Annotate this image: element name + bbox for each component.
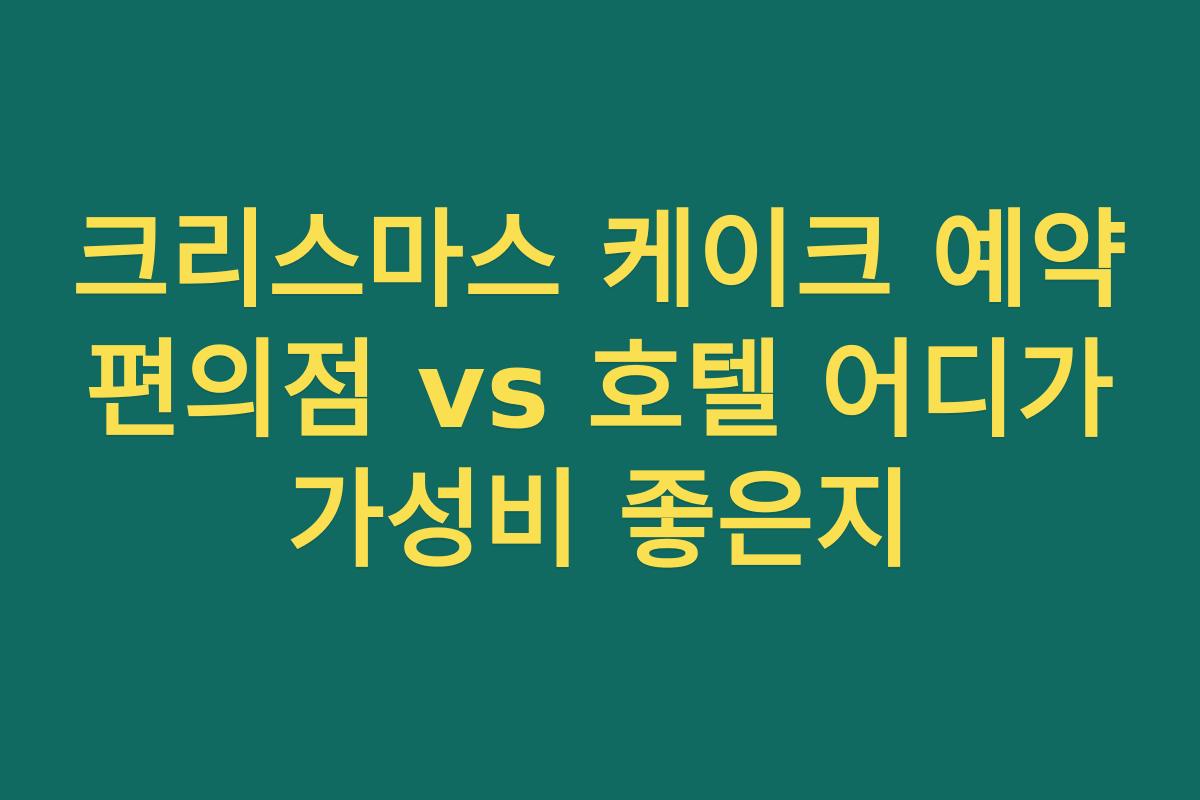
thumbnail-canvas: 크리스마스 케이크 예약 편의점 vs 호텔 어디가 가성비 좋은지 [0,0,1200,800]
title-line-3: 가성비 좋은지 [20,456,1180,586]
title-line-1: 크리스마스 케이크 예약 [20,196,1180,326]
title-line-2: 편의점 vs 호텔 어디가 [20,326,1180,456]
title-text-block: 크리스마스 케이크 예약 편의점 vs 호텔 어디가 가성비 좋은지 [20,196,1180,586]
